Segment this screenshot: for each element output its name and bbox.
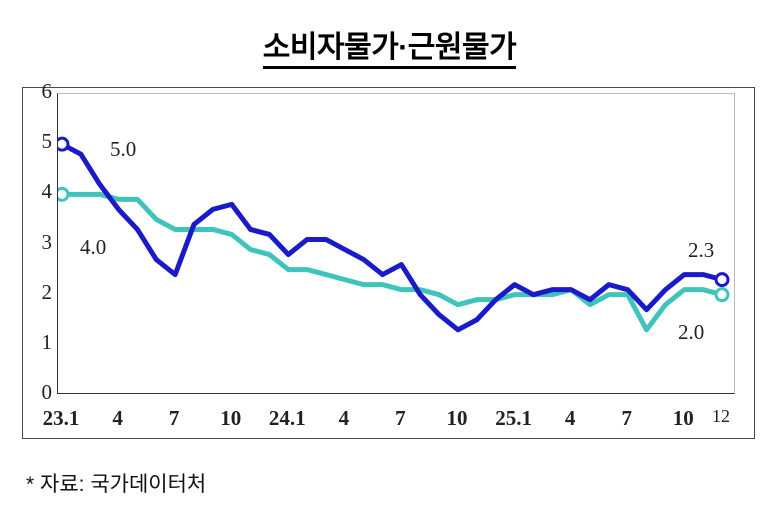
- series-canvas: [58, 94, 736, 395]
- y-axis-tick-6: 6: [22, 79, 52, 104]
- y-axis-tick-4: 4: [22, 179, 52, 204]
- y-axis-tick-0: 0: [22, 380, 52, 405]
- series-line-cpi: [62, 144, 722, 330]
- page-title: 소비자물가·근원물가: [0, 22, 779, 66]
- source-footnote: * 자료: 국가데이터처: [26, 468, 206, 498]
- x-axis-tick-4: 4: [339, 406, 350, 431]
- data-label-cpi-5-0: 5.0: [110, 137, 136, 162]
- x-axis-tick-25-1: 25.1: [495, 406, 532, 431]
- y-axis-tick-1: 1: [22, 330, 52, 355]
- x-axis-tick-4: 4: [565, 406, 576, 431]
- chart-page: 소비자물가·근원물가 6543210 23.1471024.1471025.14…: [0, 0, 779, 515]
- data-label-core-2-0: 2.0: [678, 320, 704, 345]
- marker-core-end: [716, 289, 728, 301]
- plot-area: [57, 93, 735, 394]
- marker-cpi-end: [716, 274, 728, 286]
- x-axis-tick-10: 10: [220, 406, 241, 431]
- x-axis-tick-7: 7: [169, 406, 180, 431]
- data-label-core-4-0: 4.0: [80, 235, 106, 260]
- x-axis-tick-24-1: 24.1: [269, 406, 306, 431]
- x-axis-tick-7: 7: [621, 406, 632, 431]
- y-axis-tick-5: 5: [22, 129, 52, 154]
- x-axis-tick-4: 4: [112, 406, 123, 431]
- x-axis-tick-10: 10: [447, 406, 468, 431]
- marker-core-start: [58, 188, 68, 200]
- x-axis-tick-12: 12: [712, 406, 730, 427]
- page-title-text: 소비자물가·근원물가: [263, 31, 516, 69]
- x-axis-tick-7: 7: [395, 406, 406, 431]
- x-axis-tick-10: 10: [673, 406, 694, 431]
- y-axis-tick-3: 3: [22, 230, 52, 255]
- y-axis-tick-2: 2: [22, 280, 52, 305]
- x-axis-tick-23-1: 23.1: [43, 406, 80, 431]
- data-label-cpi-2-3: 2.3: [688, 238, 714, 263]
- marker-cpi-start: [58, 138, 68, 150]
